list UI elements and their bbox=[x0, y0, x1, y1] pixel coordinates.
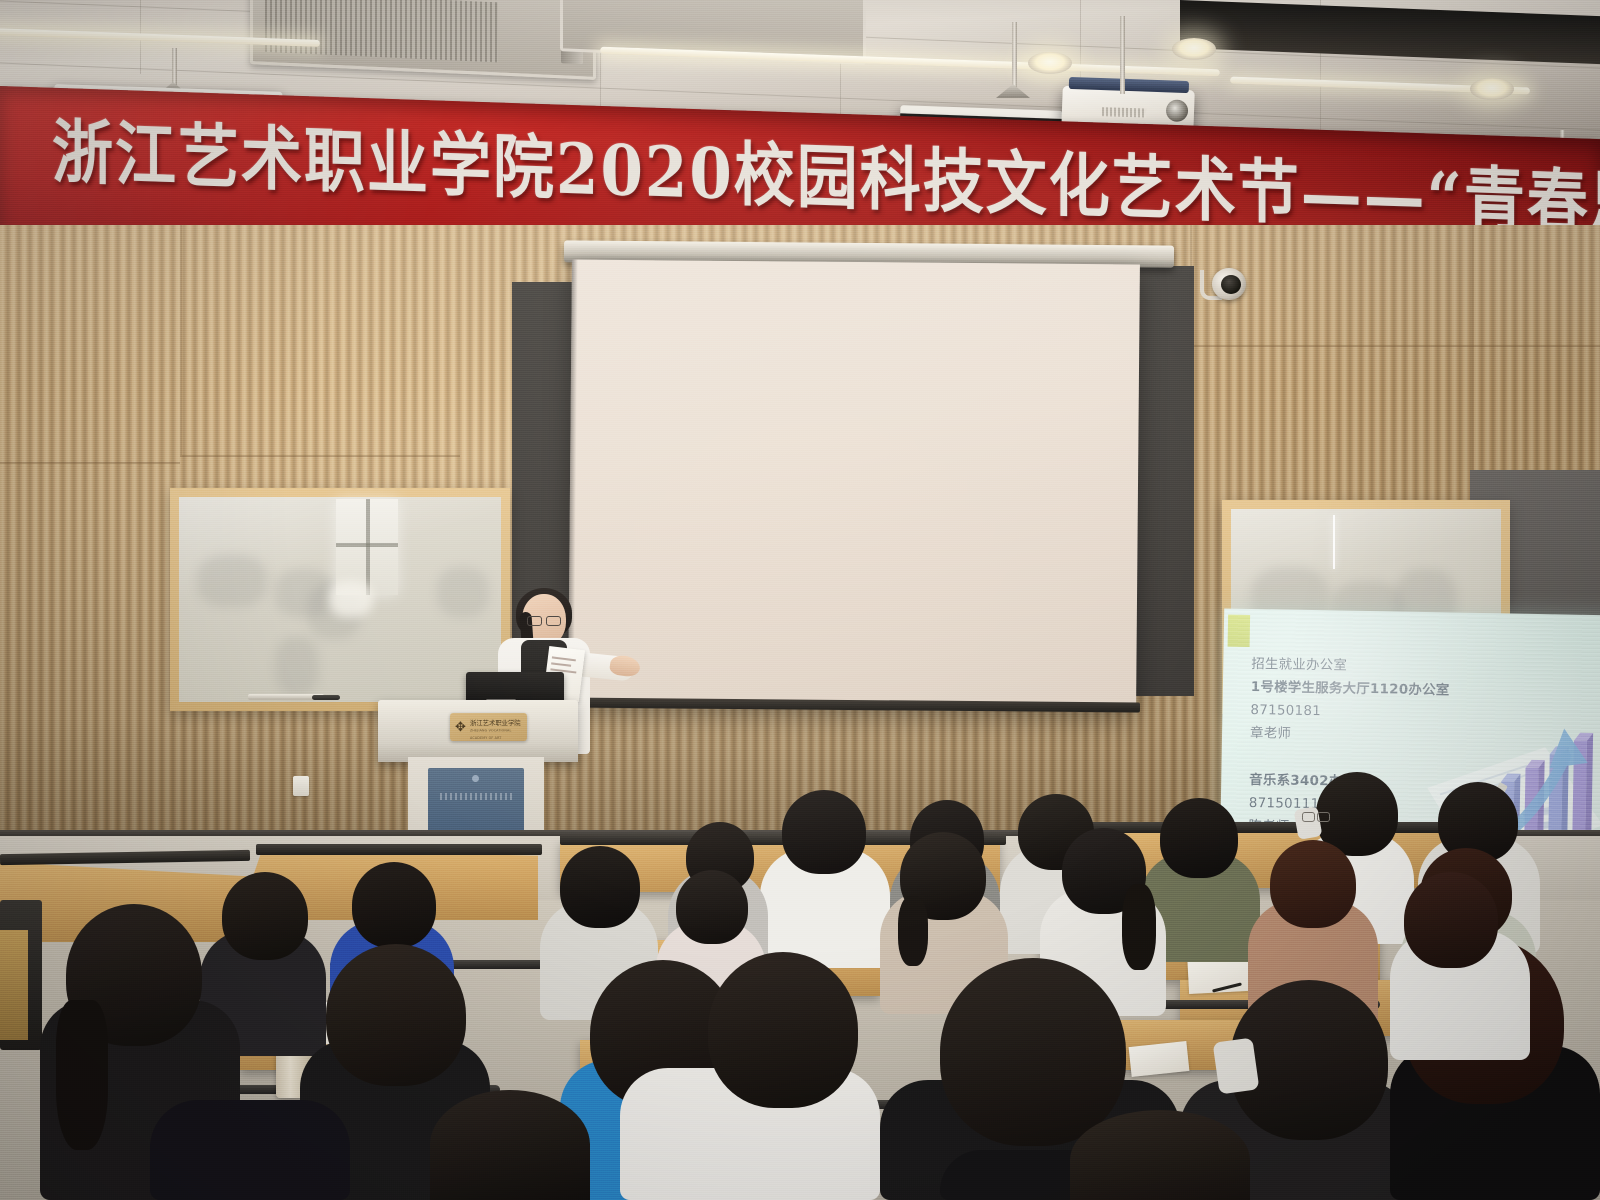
student-head bbox=[430, 1090, 590, 1200]
student-head bbox=[1070, 1110, 1250, 1200]
podium-vents bbox=[440, 793, 512, 800]
podium-plaque: ✥ 浙江艺术职业学院 ZHEJIANG VOCATIONAL ACADEMY O… bbox=[450, 713, 527, 741]
whiteboard-marker[interactable] bbox=[312, 695, 340, 700]
student-ponytail bbox=[56, 1000, 108, 1150]
security-camera-icon bbox=[1212, 268, 1246, 300]
lecture-hall-photo: 浙江艺术职业学院2020校园科技文化艺术节——“青春思辩”校园辩论赛复赛 bbox=[0, 0, 1600, 1200]
wall-recess-right bbox=[1136, 266, 1194, 696]
student-hair bbox=[898, 896, 928, 966]
student-desk-edge bbox=[256, 844, 542, 855]
podium-knob[interactable] bbox=[472, 775, 479, 782]
wall-socket[interactable] bbox=[293, 776, 309, 796]
student-head bbox=[326, 944, 466, 1086]
student-head bbox=[676, 870, 748, 944]
fixture-rod bbox=[1012, 22, 1017, 92]
student-desk-edge bbox=[1060, 822, 1490, 833]
student-head bbox=[782, 790, 866, 874]
projector-mount-rod bbox=[1120, 16, 1125, 94]
student-head bbox=[940, 958, 1126, 1146]
glasses-icon bbox=[1302, 812, 1330, 820]
projector-lens-icon bbox=[1166, 99, 1189, 122]
glasses-icon bbox=[527, 616, 561, 624]
student-head bbox=[708, 952, 858, 1108]
student-head bbox=[352, 862, 436, 948]
handout-paper[interactable] bbox=[1129, 1041, 1190, 1077]
school-logo-icon: ✥ bbox=[455, 719, 468, 735]
face-mask-icon bbox=[1213, 1037, 1260, 1094]
downlight bbox=[1028, 52, 1072, 74]
downlight bbox=[1172, 38, 1216, 60]
projection-screen: 招生就业办公室 1号楼学生服务大厅1120办公室 87150181 章老师 音乐… bbox=[568, 260, 1140, 709]
downlight bbox=[1470, 78, 1514, 100]
student-head bbox=[1270, 840, 1356, 928]
student-head bbox=[1404, 872, 1498, 968]
plaque-school-name: 浙江艺术职业学院 bbox=[470, 719, 522, 727]
student-hair bbox=[1122, 884, 1156, 970]
student-head bbox=[560, 846, 640, 928]
whiteboard-left bbox=[170, 488, 510, 711]
student-body bbox=[150, 1100, 350, 1200]
chair-left-seat bbox=[0, 930, 28, 1040]
student-head bbox=[1160, 798, 1238, 878]
plaque-school-name-en: ZHEJIANG VOCATIONAL ACADEMY OF ART bbox=[470, 727, 522, 742]
student-head bbox=[222, 872, 308, 960]
